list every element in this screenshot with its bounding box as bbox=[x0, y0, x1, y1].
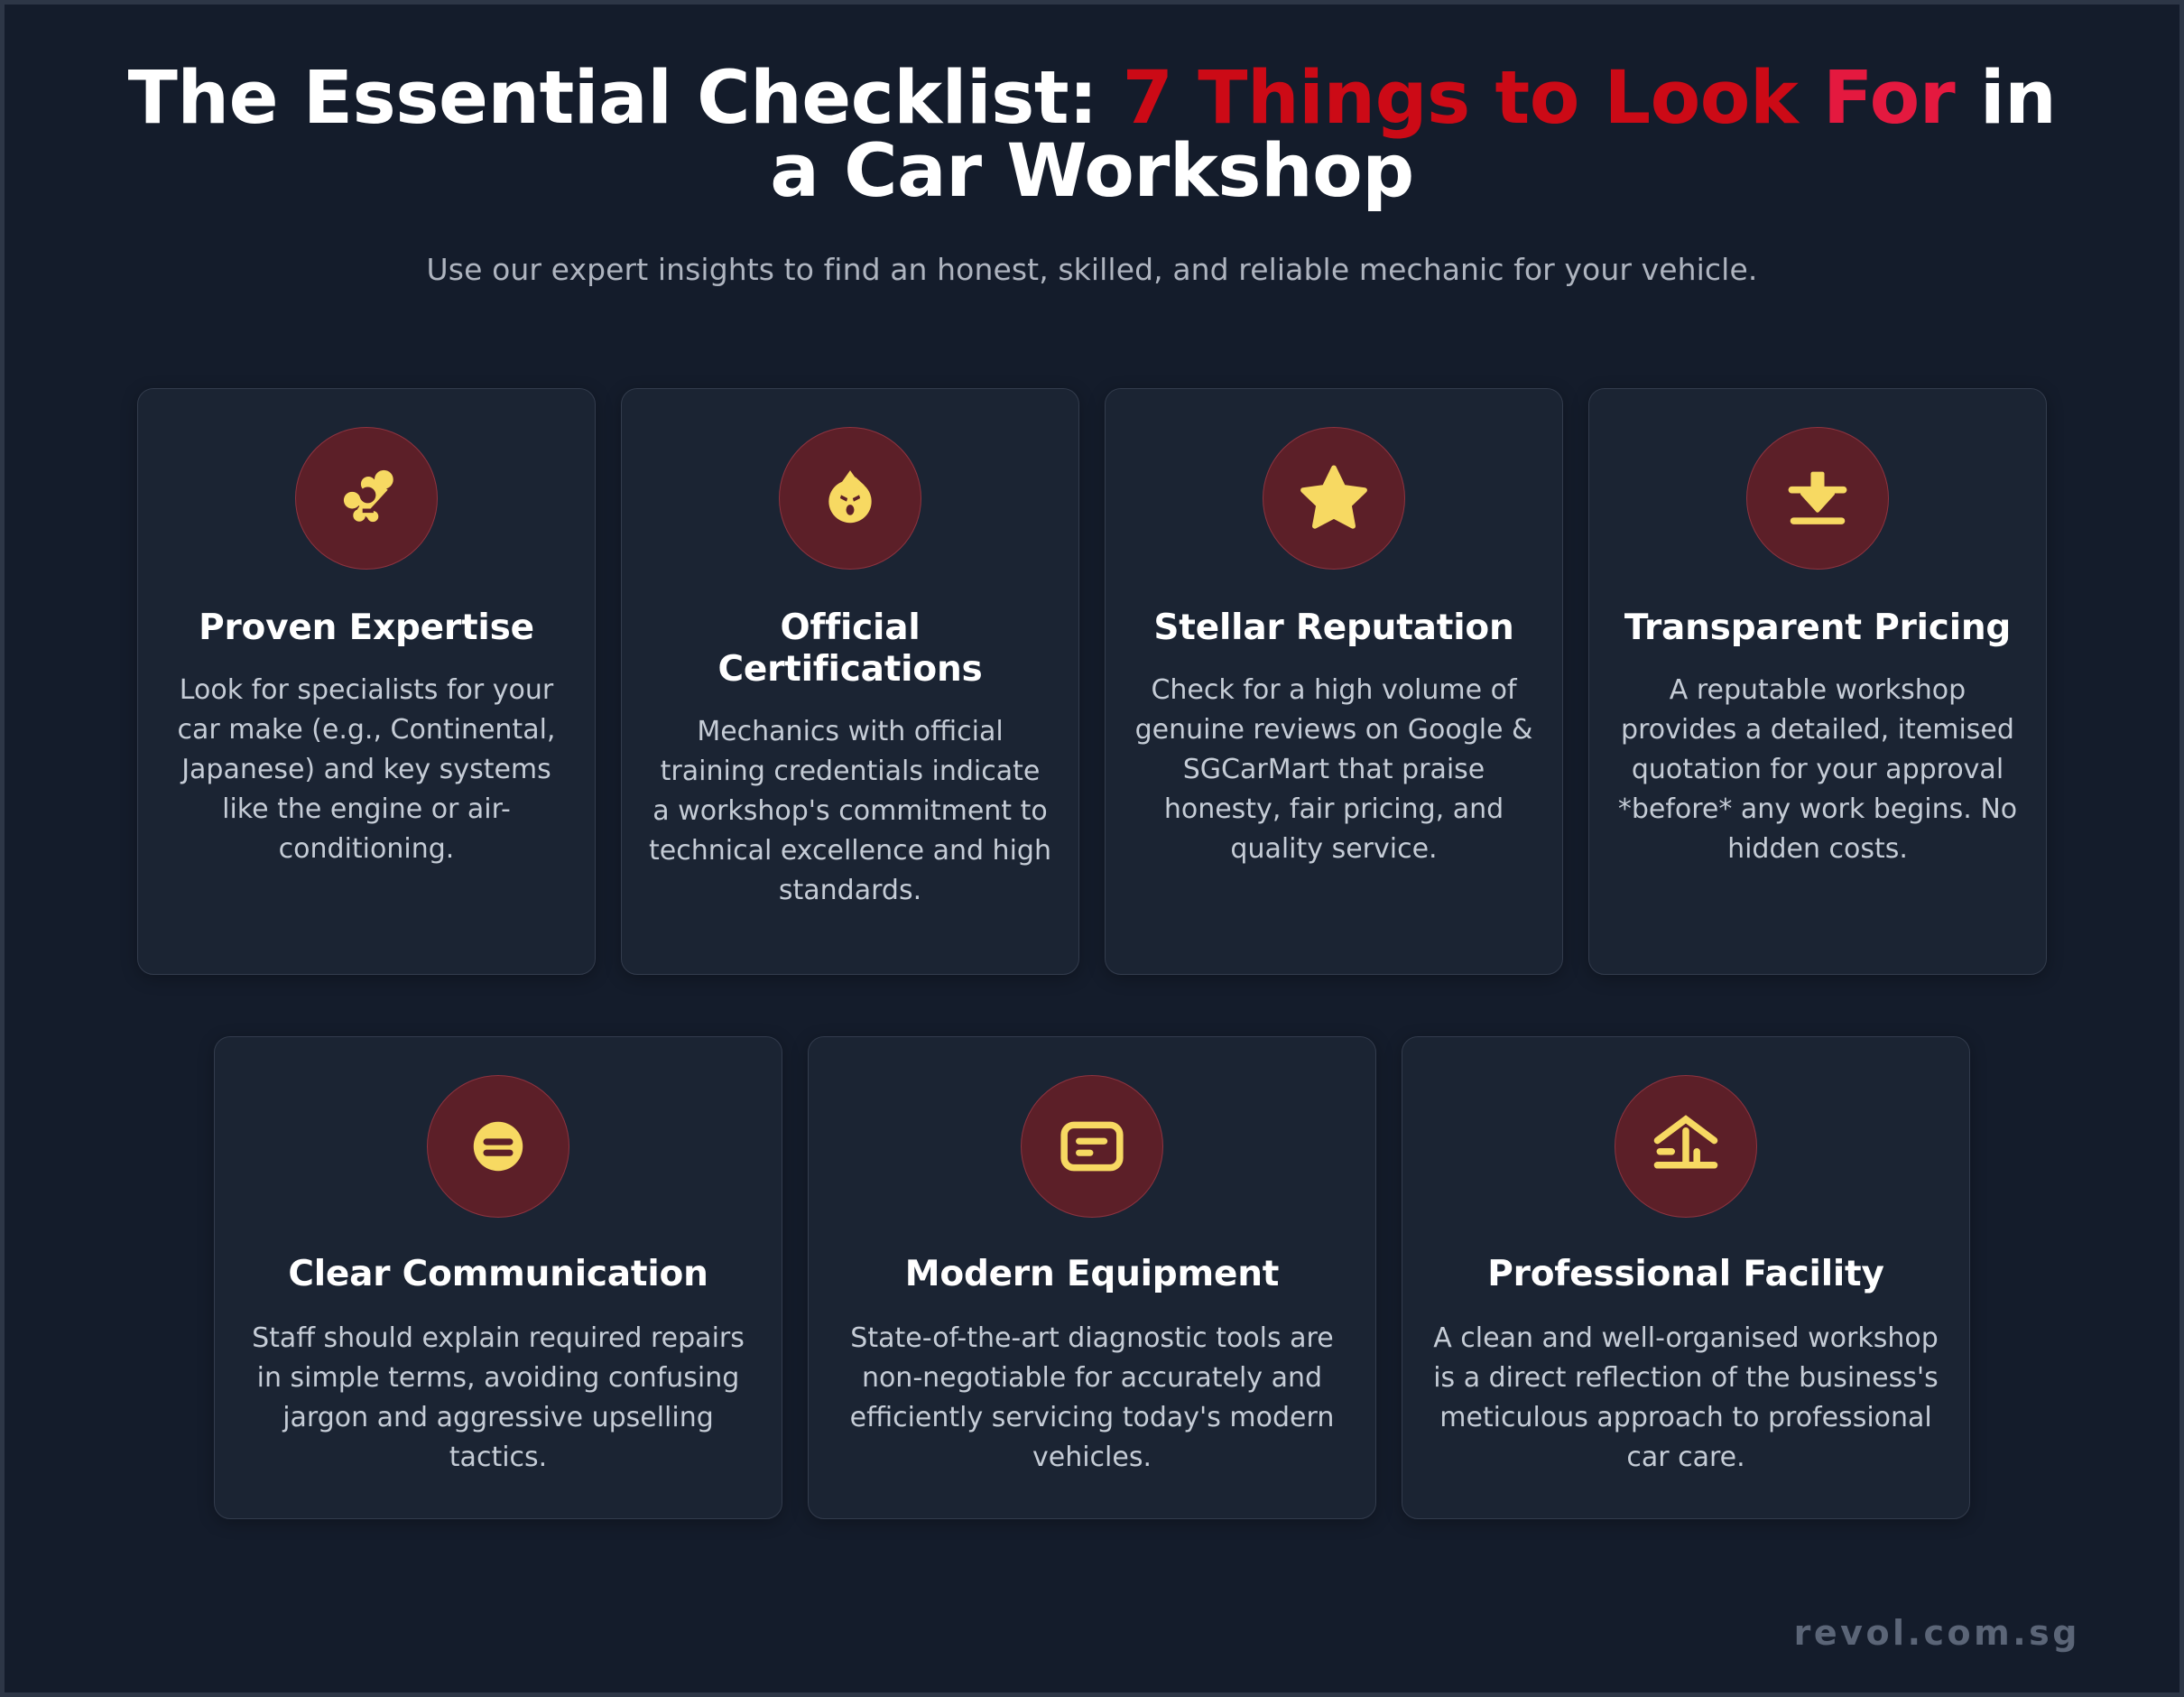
title-segment-accent-1: 7 Things to Look bbox=[1123, 56, 1799, 141]
header: The Essential Checklist: 7 Things to Loo… bbox=[5, 5, 2179, 287]
checklist-card-proven-expertise: Proven Expertise Look for specialists fo… bbox=[137, 388, 596, 975]
checklist-grid-top: Proven Expertise Look for specialists fo… bbox=[5, 388, 2179, 975]
title-segment-plain-1: The Essential Checklist: bbox=[128, 56, 1123, 141]
card-body: Staff should explain required repairs in… bbox=[242, 1319, 754, 1478]
wrench-tool-icon bbox=[328, 459, 405, 537]
certificate-badge-icon bbox=[811, 459, 889, 537]
checklist-card-transparent-pricing: Transparent Pricing A reputable workshop… bbox=[1588, 388, 2047, 975]
page-subtitle: Use our expert insights to find an hones… bbox=[113, 252, 2071, 287]
card-title: Professional Facility bbox=[1487, 1254, 1883, 1295]
icon-badge bbox=[1021, 1075, 1163, 1218]
card-body: State-of-the-art diagnostic tools are no… bbox=[836, 1319, 1348, 1478]
card-body: Mechanics with official training credent… bbox=[649, 712, 1051, 911]
diagnostic-panel-icon bbox=[1053, 1108, 1131, 1185]
speech-bubble-equals-icon bbox=[459, 1108, 537, 1185]
card-title: Official Certifications bbox=[649, 607, 1051, 691]
card-body: A clean and well-organised workshop is a… bbox=[1430, 1319, 1942, 1478]
infographic-page: The Essential Checklist: 7 Things to Loo… bbox=[5, 5, 2179, 1692]
card-body: Look for specialists for your car make (… bbox=[165, 671, 568, 869]
card-body: Check for a high volume of genuine revie… bbox=[1133, 671, 1535, 869]
download-arrow-icon bbox=[1779, 459, 1856, 537]
icon-badge bbox=[295, 427, 438, 570]
card-title: Proven Expertise bbox=[199, 607, 534, 649]
icon-badge bbox=[779, 427, 921, 570]
icon-badge bbox=[427, 1075, 569, 1218]
card-title: Stellar Reputation bbox=[1153, 607, 1513, 649]
workshop-building-icon bbox=[1647, 1108, 1725, 1185]
title-segment-accent-2: For bbox=[1823, 56, 1955, 141]
site-watermark: revol.com.sg bbox=[1794, 1613, 2080, 1653]
checklist-grid-bottom: Clear Communication Staff should explain… bbox=[5, 1036, 2179, 1519]
checklist-card-official-certifications: Official Certifications Mechanics with o… bbox=[621, 388, 1079, 975]
checklist-card-clear-communication: Clear Communication Staff should explain… bbox=[214, 1036, 782, 1519]
checklist-card-professional-facility: Professional Facility A clean and well-o… bbox=[1402, 1036, 1970, 1519]
page-title: The Essential Checklist: 7 Things to Loo… bbox=[113, 62, 2071, 209]
icon-badge bbox=[1263, 427, 1405, 570]
star-icon bbox=[1295, 459, 1373, 537]
card-title: Modern Equipment bbox=[905, 1254, 1279, 1295]
icon-badge bbox=[1615, 1075, 1757, 1218]
checklist-card-stellar-reputation: Stellar Reputation Check for a high volu… bbox=[1105, 388, 1563, 975]
icon-badge bbox=[1746, 427, 1889, 570]
card-title: Clear Communication bbox=[288, 1254, 708, 1295]
card-title: Transparent Pricing bbox=[1624, 607, 2011, 649]
checklist-card-modern-equipment: Modern Equipment State-of-the-art diagno… bbox=[808, 1036, 1376, 1519]
card-body: A reputable workshop provides a detailed… bbox=[1616, 671, 2019, 869]
